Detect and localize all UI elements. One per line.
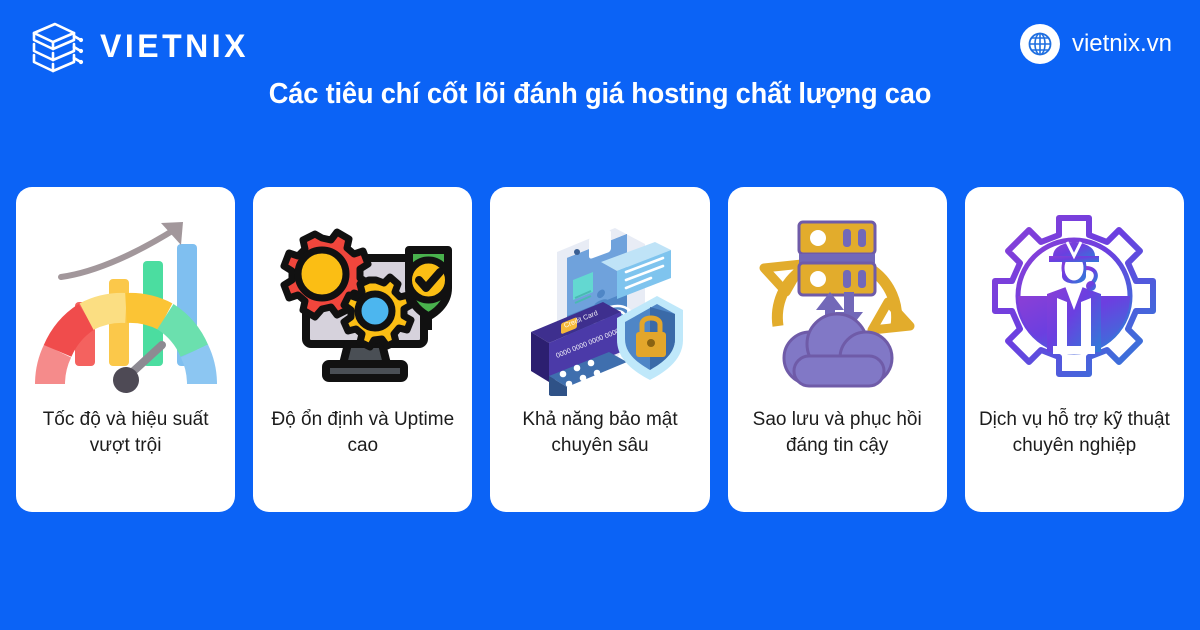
- page-title: Các tiêu chí cốt lõi đánh giá hosting ch…: [36, 78, 1164, 111]
- gear-support-technician-icon: [974, 201, 1174, 401]
- feature-card-list: Tốc độ và hiệu suất vượt trội: [16, 187, 1184, 512]
- feature-card-label: Sao lưu và phục hồi đáng tin cậy: [728, 407, 947, 458]
- brand-logo[interactable]: VIETNIX: [28, 17, 249, 75]
- header: VIETNIX vietnix.vn: [0, 0, 1200, 90]
- site-url-link[interactable]: vietnix.vn: [1020, 24, 1172, 64]
- speedometer-bar-chart-icon: [26, 201, 226, 401]
- feature-card-speed[interactable]: Tốc độ và hiệu suất vượt trội: [16, 187, 235, 512]
- feature-card-support[interactable]: Dịch vụ hỗ trợ kỹ thuật chuyên nghiệp: [965, 187, 1184, 512]
- site-url-text: vietnix.vn: [1072, 32, 1172, 56]
- feature-card-label: Độ ổn định và Uptime cao: [253, 407, 472, 458]
- feature-card-label: Tốc độ và hiệu suất vượt trội: [16, 407, 235, 458]
- feature-card-security[interactable]: 0000 0000 0000 0000 Credit Card: [490, 187, 709, 512]
- monitor-gears-shield-check-icon: [263, 201, 463, 401]
- infographic-root: VIETNIX vietnix.vn Các tiêu chí cốt lõi …: [0, 0, 1200, 630]
- feature-card-label: Dịch vụ hỗ trợ kỹ thuật chuyên nghiệp: [965, 407, 1184, 458]
- brand-name: VIETNIX: [100, 30, 249, 62]
- feature-card-uptime[interactable]: Độ ổn định và Uptime cao: [253, 187, 472, 512]
- server-cloud-sync-backup-icon: [737, 201, 937, 401]
- phone-credit-card-fingerprint-padlock-icon: 0000 0000 0000 0000 Credit Card: [500, 201, 700, 401]
- stacked-layers-logo-icon: [28, 17, 86, 75]
- feature-card-label: Khả năng bảo mật chuyên sâu: [490, 407, 709, 458]
- feature-card-backup[interactable]: Sao lưu và phục hồi đáng tin cậy: [728, 187, 947, 512]
- globe-icon: [1020, 24, 1060, 64]
